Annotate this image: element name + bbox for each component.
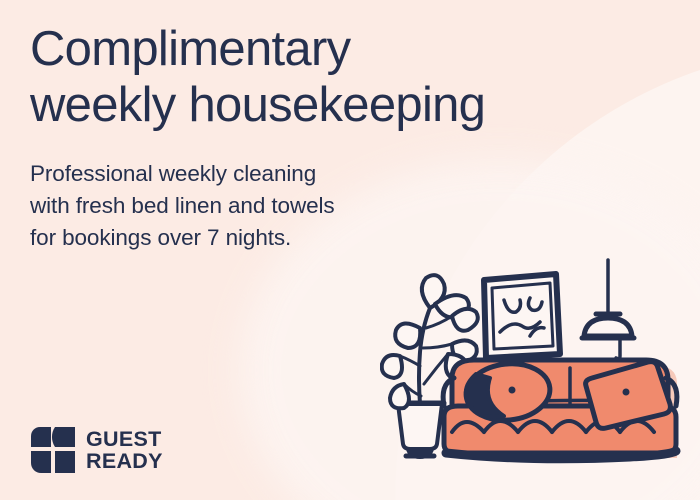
logo-wordmark: GUEST READY	[86, 428, 163, 473]
logo-line-1: GUEST	[86, 428, 163, 450]
framed-wall-art-icon	[484, 274, 560, 358]
promo-banner: Complimentary weekly housekeeping Profes…	[0, 0, 700, 500]
guestready-logo[interactable]: GUEST READY	[31, 427, 163, 473]
pendant-lamp-icon	[582, 260, 634, 359]
guestready-quadrant-mark-icon	[31, 427, 75, 473]
logo-line-2: READY	[86, 450, 163, 472]
text-content: Complimentary weekly housekeeping Profes…	[30, 22, 700, 254]
living-room-illustration	[380, 256, 700, 496]
page-title: Complimentary weekly housekeeping	[30, 22, 700, 134]
subheading: Professional weekly cleaning with fresh …	[30, 158, 700, 254]
